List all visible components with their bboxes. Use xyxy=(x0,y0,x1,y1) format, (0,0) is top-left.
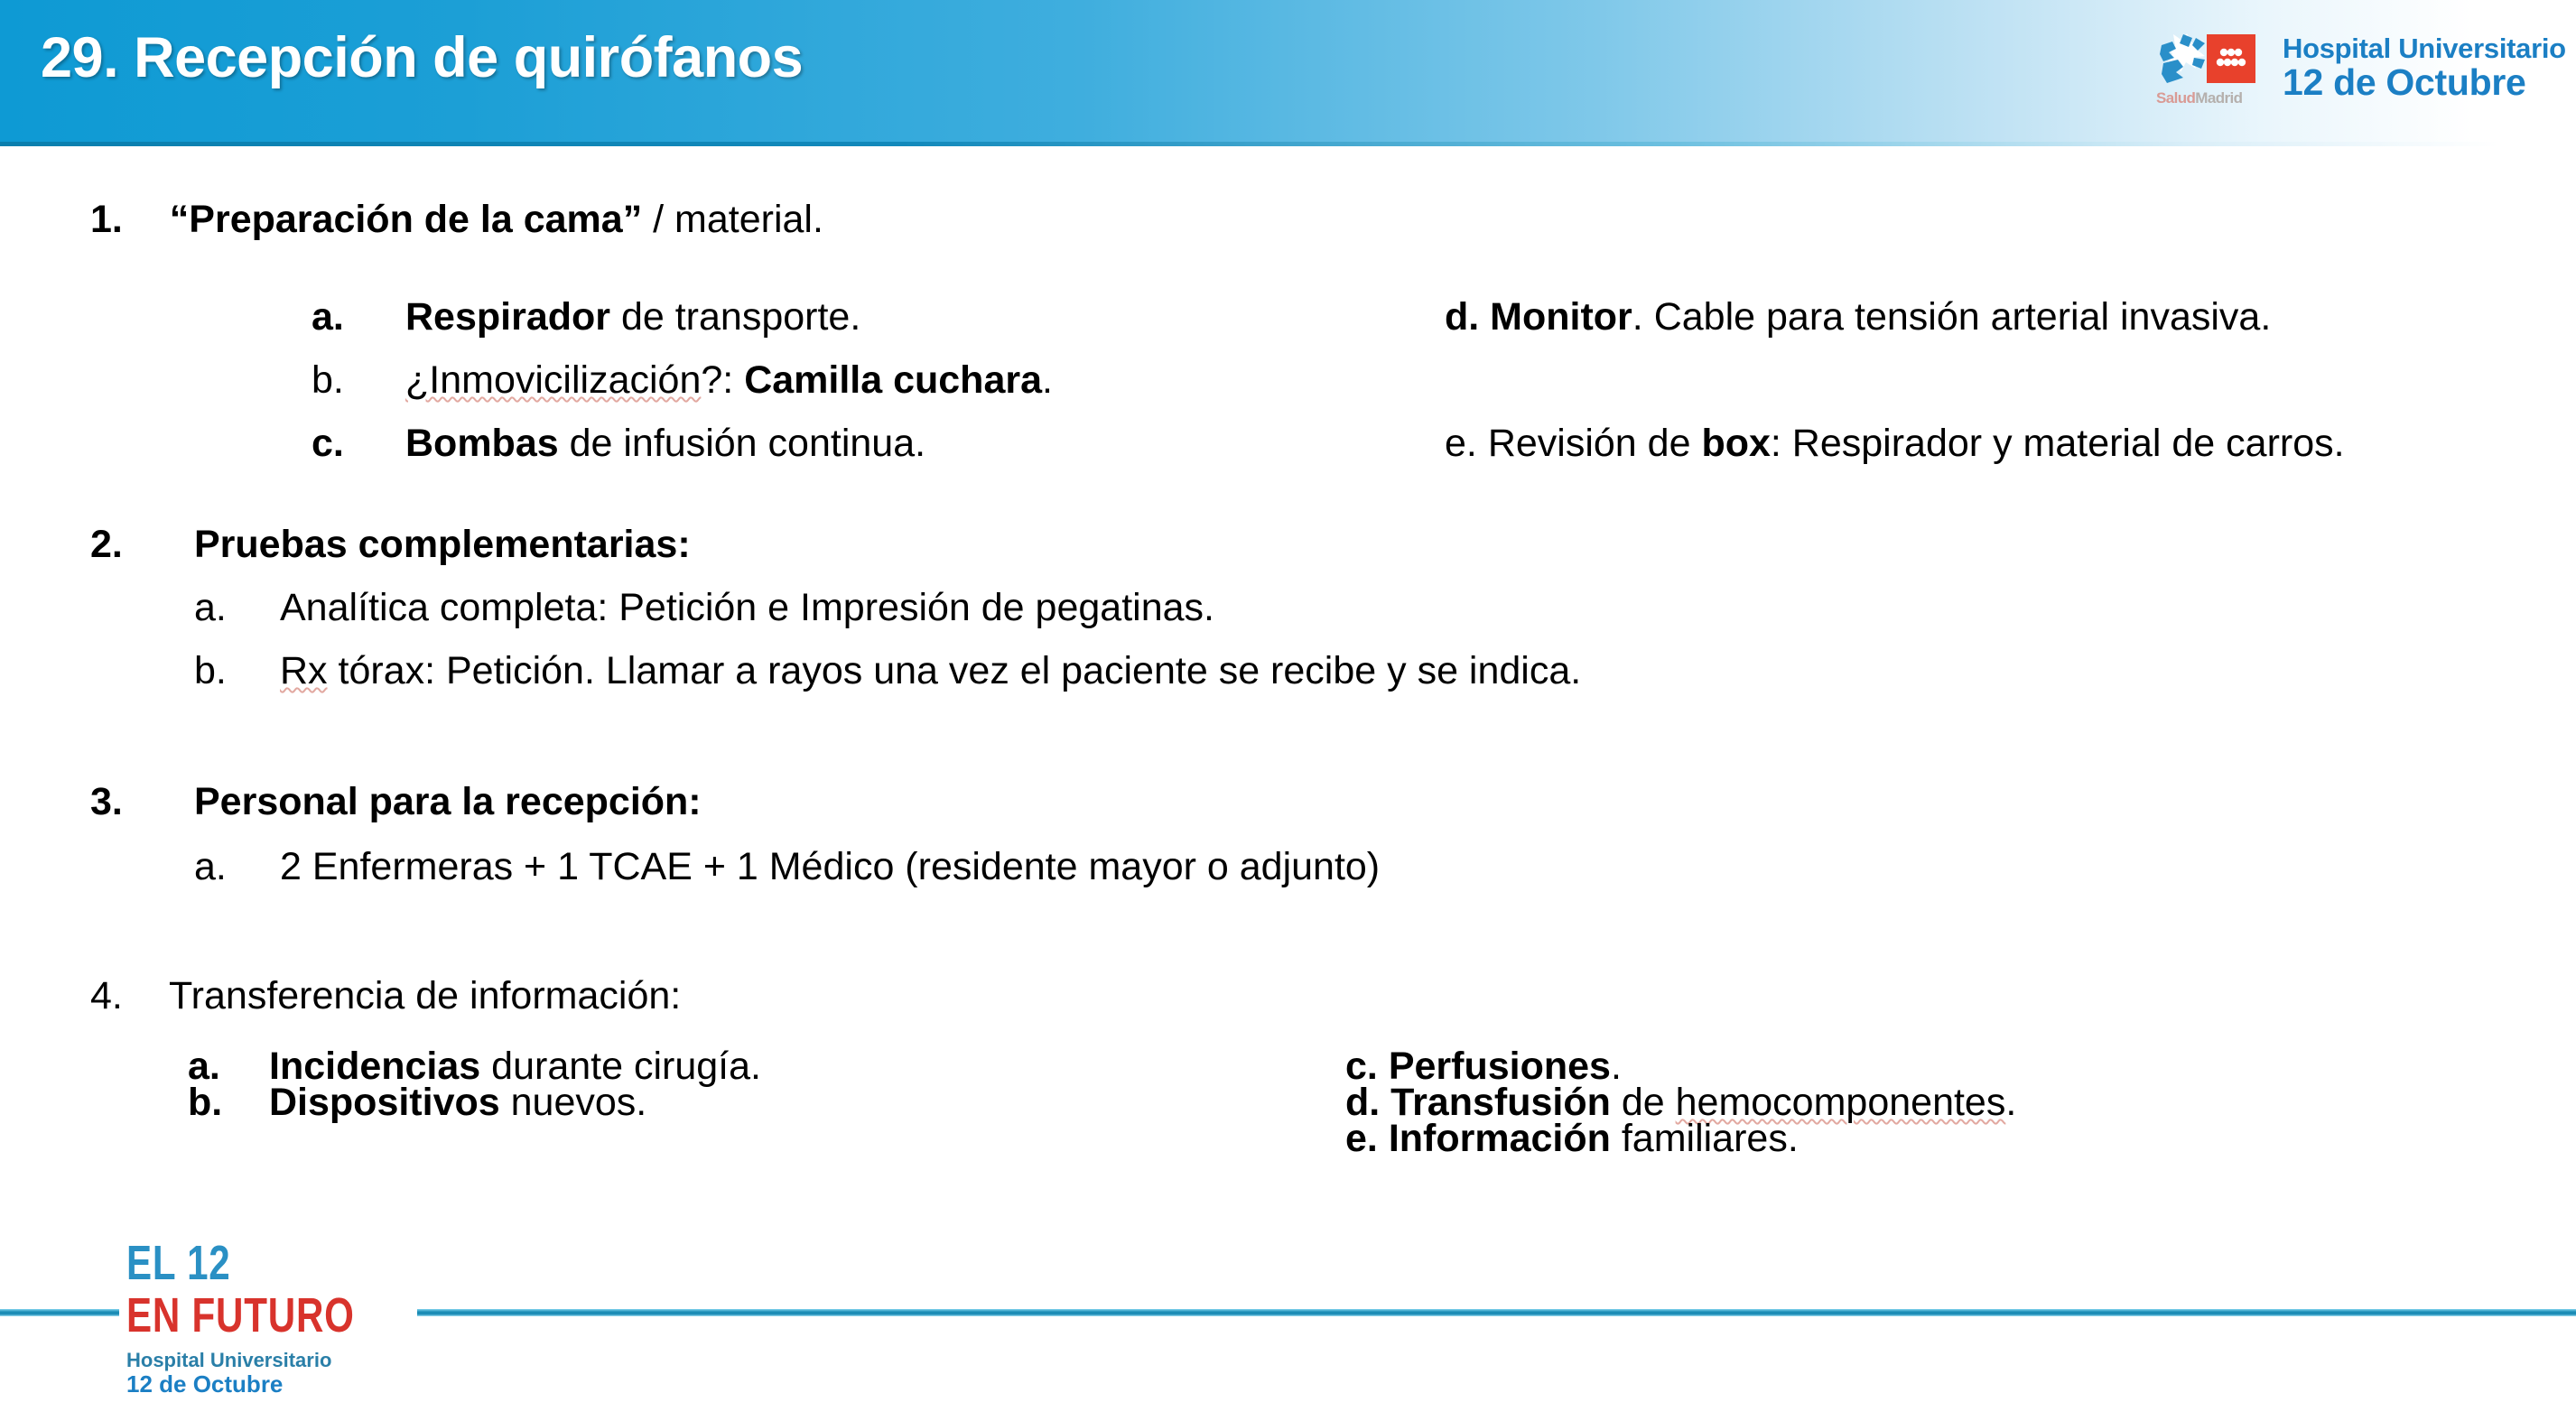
hospital-logo-line2: 12 de Octubre xyxy=(2283,64,2566,101)
list-item-3a: a.2 Enfermeras + 1 TCAE + 1 Médico (resi… xyxy=(194,848,1380,887)
list-item-2: 2.Pruebas complementarias: xyxy=(90,525,691,564)
item1b-spellcheck-word: ¿Inmovicilización xyxy=(405,358,701,402)
logo-mark: SaludMadrid xyxy=(2156,29,2275,107)
list-item-2a: a.Analítica completa: Petición e Impresi… xyxy=(194,589,1214,627)
footer-logo-line1: EL 12 xyxy=(126,1239,352,1287)
item4-plain-text: Transferencia de información: xyxy=(169,974,681,1017)
madrid-seven-stars-icon xyxy=(2207,34,2255,83)
list-item-1b: b.¿Inmovicilización?: Camilla cuchara. xyxy=(312,361,1053,400)
list-marker-4: 4. xyxy=(90,977,123,1016)
hospital-name-block: Hospital Universitario 12 de Octubre xyxy=(2283,34,2566,101)
list-marker-1a: a. xyxy=(312,298,405,337)
item1e-pre: Revisión de xyxy=(1488,422,1702,465)
list-item-2b: b.Rx tórax: Petición. Llamar a rayos una… xyxy=(194,652,1581,691)
item1c-bold: Bombas xyxy=(405,422,559,465)
list-item-3: 3.Personal para la recepción: xyxy=(90,783,702,822)
item4d-plain: . xyxy=(2005,1081,2016,1124)
item1e-plain: : Respirador y material de carros. xyxy=(1771,422,2345,465)
list-marker-3a: a. xyxy=(194,848,280,887)
list-marker-1c: c. xyxy=(312,424,405,463)
salud-madrid-wordmark: SaludMadrid xyxy=(2156,89,2242,107)
list-marker-4b: b. xyxy=(188,1083,269,1122)
list-marker-1d: d. xyxy=(1445,295,1490,339)
item2-bold-text: Pruebas complementarias: xyxy=(194,523,691,566)
footer-logo-sub1: Hospital Universitario xyxy=(126,1351,415,1370)
footer-logo-line2: EN FUTURO xyxy=(126,1291,352,1340)
item4b-bold: Dispositivos xyxy=(269,1081,500,1124)
list-marker-2: 2. xyxy=(90,525,194,564)
salud-madrid-figure-icon xyxy=(2156,31,2212,87)
item4e-plain: familiares. xyxy=(1611,1117,1799,1160)
list-item-1a: a.Respirador de transporte. xyxy=(312,298,860,337)
list-item-1: 1. “Preparación de la cama” / material. xyxy=(90,200,823,239)
item1a-bold: Respirador xyxy=(405,295,610,339)
item1-rest-text: / material. xyxy=(642,198,823,241)
el-12-en-futuro-logo: EL 12 EN FUTURO Hospital Universitario 1… xyxy=(126,1239,415,1396)
item3-bold-text: Personal para la recepción: xyxy=(194,780,702,823)
page-title: 29. Recepción de quirófanos xyxy=(41,25,803,90)
list-marker-3: 3. xyxy=(90,783,194,822)
item1b-mid: ?: xyxy=(701,358,744,402)
slide-content: 1. “Preparación de la cama” / material. … xyxy=(0,144,2576,1300)
list-item-1e: e. Revisión de box: Respirador y materia… xyxy=(1445,424,2483,463)
item1c-plain: de infusión continua. xyxy=(559,422,925,465)
salud-word: Salud xyxy=(2156,89,2195,107)
list-marker-1b: b. xyxy=(312,361,405,400)
hospital-logo: SaludMadrid Hospital Universitario 12 de… xyxy=(2156,27,2566,108)
madrid-word: Madrid xyxy=(2195,89,2242,107)
hospital-logo-line1: Hospital Universitario xyxy=(2283,34,2566,62)
item1b-plain: . xyxy=(1042,358,1053,402)
footer-logo-sub2: 12 de Octubre xyxy=(126,1372,415,1396)
item2b-spellcheck-word: Rx xyxy=(280,649,328,692)
item1-bold-text: “Preparación de la cama” xyxy=(170,198,642,241)
item4b-plain: nuevos. xyxy=(500,1081,647,1124)
list-marker-2b: b. xyxy=(194,652,280,691)
item1d-plain: . Cable para tensión arterial invasiva. xyxy=(1632,295,2271,339)
item1b-bold: Camilla cuchara xyxy=(744,358,1042,402)
item3a-plain: 2 Enfermeras + 1 TCAE + 1 Médico (reside… xyxy=(280,845,1380,888)
list-marker-2a: a. xyxy=(194,589,280,627)
list-item-4: 4. Transferencia de información: xyxy=(90,977,681,1016)
list-item-4e: e. Información familiares. xyxy=(1345,1119,1799,1158)
item1d-bold: Monitor xyxy=(1490,295,1632,339)
item4e-bold: Información xyxy=(1389,1117,1611,1160)
list-marker-1e: e. xyxy=(1445,422,1488,465)
list-item-1d: d. Monitor. Cable para tensión arterial … xyxy=(1445,298,2447,337)
item1a-plain: de transporte. xyxy=(610,295,860,339)
list-marker-4e: e. xyxy=(1345,1117,1389,1160)
list-item-4b: b.Dispositivos nuevos. xyxy=(188,1083,646,1122)
item2a-plain: Analítica completa: Petición e Impresión… xyxy=(280,586,1214,629)
list-item-1c: c.Bombas de infusión continua. xyxy=(312,424,925,463)
item2b-plain: tórax: Petición. Llamar a rayos una vez … xyxy=(328,649,1582,692)
list-marker-1: 1. xyxy=(90,200,123,239)
item1e-bold: box xyxy=(1701,422,1770,465)
